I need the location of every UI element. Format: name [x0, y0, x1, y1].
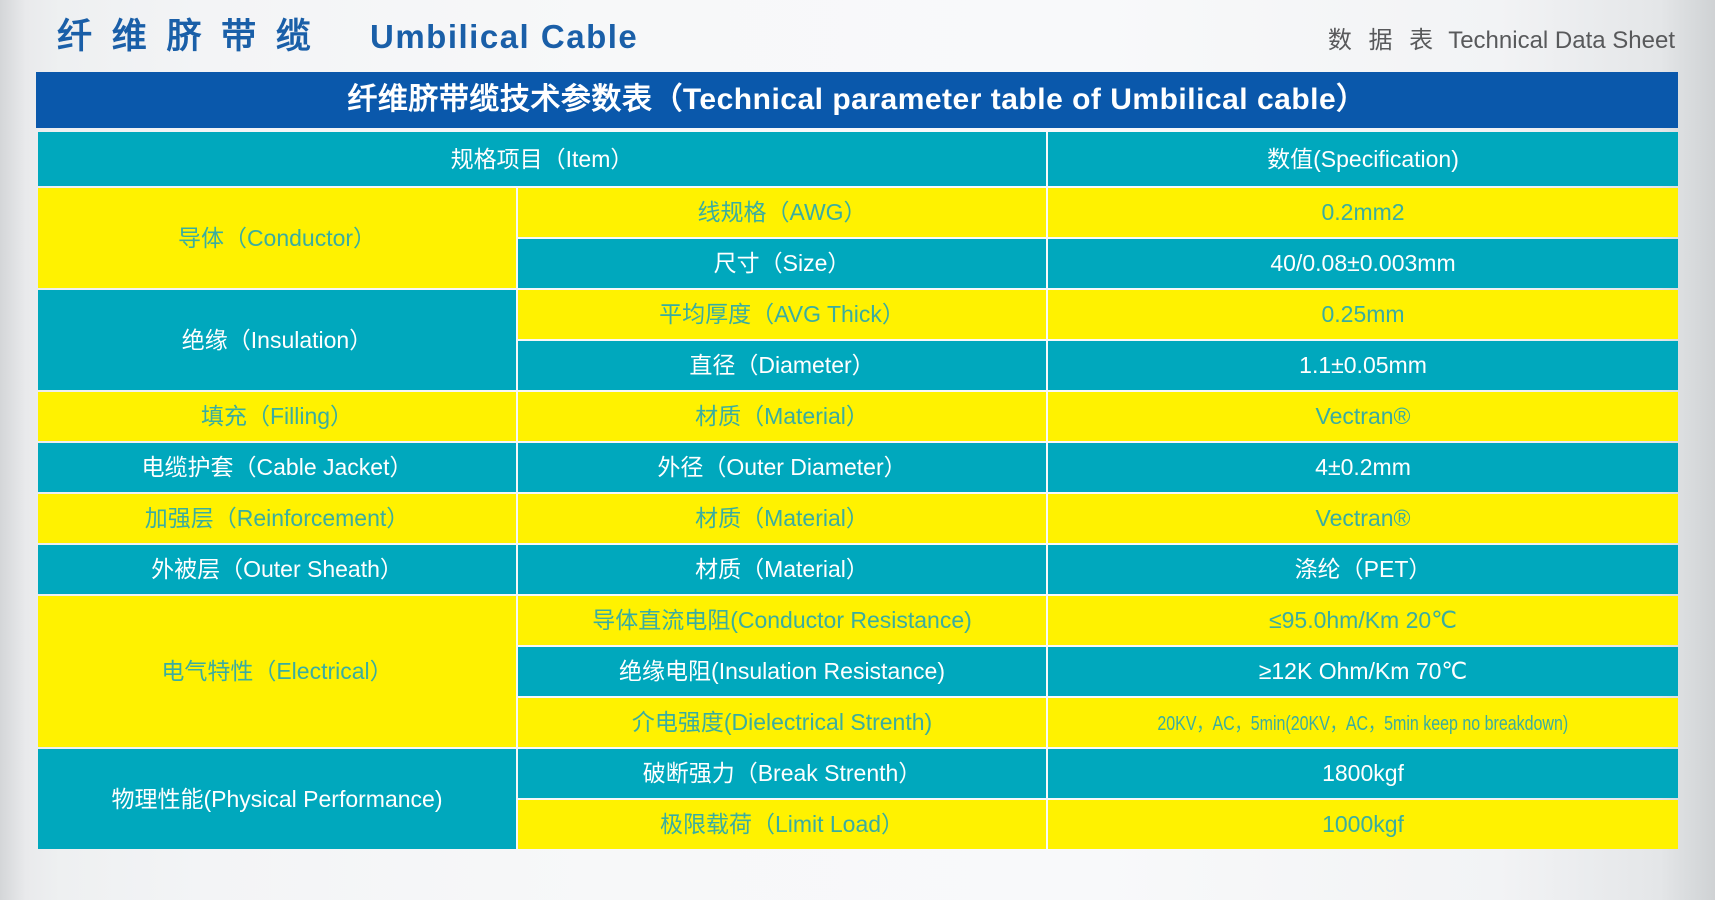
parameter-cell: 尺寸（Size） — [518, 239, 1046, 288]
table-row: 填充（Filling）材质（Material）Vectran® — [38, 392, 1678, 441]
value-cell: Vectran® — [1048, 494, 1678, 543]
parameter-cell: 绝缘电阻(Insulation Resistance) — [518, 647, 1046, 696]
table-row: 绝缘（Insulation）平均厚度（AVG Thick）0.25mm — [38, 290, 1678, 339]
group-label-cell: 外被层（Outer Sheath） — [38, 545, 516, 594]
parameter-cell: 材质（Material） — [518, 545, 1046, 594]
page-header: 纤 维 脐 带 缆 Umbilical Cable 数 据 表Technical… — [0, 0, 1715, 72]
value-cell: 0.25mm — [1048, 290, 1678, 339]
group-label-cell: 物理性能(Physical Performance) — [38, 749, 516, 849]
table-row: 电气特性（Electrical）导体直流电阻(Conductor Resista… — [38, 596, 1678, 645]
spec-table-container: 纤维脐带缆技术参数表（Technical parameter table of … — [36, 72, 1678, 851]
group-label-cell: 填充（Filling） — [38, 392, 516, 441]
parameter-cell: 外径（Outer Diameter） — [518, 443, 1046, 492]
group-label-cell: 加强层（Reinforcement） — [38, 494, 516, 543]
value-cell: 0.2mm2 — [1048, 188, 1678, 237]
value-cell: 4±0.2mm — [1048, 443, 1678, 492]
spec-table-title: 纤维脐带缆技术参数表（Technical parameter table of … — [36, 72, 1678, 128]
value-cell: Vectran® — [1048, 392, 1678, 441]
group-label-cell: 绝缘（Insulation） — [38, 290, 516, 390]
parameter-cell: 材质（Material） — [518, 494, 1046, 543]
data-sheet-label-zh: 数 据 表 — [1328, 27, 1438, 54]
parameter-cell: 材质（Material） — [518, 392, 1046, 441]
column-header-item: 规格项目（Item） — [38, 132, 1046, 186]
value-cell: 1.1±0.05mm — [1048, 341, 1678, 390]
data-sheet-label: 数 据 表Technical Data Sheet — [1328, 26, 1675, 56]
parameter-cell: 导体直流电阻(Conductor Resistance) — [518, 596, 1046, 645]
parameter-cell: 直径（Diameter） — [518, 341, 1046, 390]
spec-table-body: 规格项目（Item）数值(Specification)导体（Conductor）… — [38, 132, 1678, 849]
table-header-row: 规格项目（Item）数值(Specification) — [38, 132, 1678, 186]
group-label-cell: 电缆护套（Cable Jacket） — [38, 443, 516, 492]
table-row: 导体（Conductor）线规格（AWG）0.2mm2 — [38, 188, 1678, 237]
column-header-specification: 数值(Specification) — [1048, 132, 1678, 186]
table-row: 物理性能(Physical Performance)破断强力（Break Str… — [38, 749, 1678, 798]
parameter-cell: 平均厚度（AVG Thick） — [518, 290, 1046, 339]
table-row: 外被层（Outer Sheath）材质（Material）涤纶（PET） — [38, 545, 1678, 594]
table-row: 加强层（Reinforcement）材质（Material）Vectran® — [38, 494, 1678, 543]
data-sheet-label-en: Technical Data Sheet — [1448, 27, 1675, 54]
value-cell: 20KV，AC，5min(20KV，AC，5min keep no breakd… — [1048, 698, 1678, 747]
value-cell: ≤95.0hm/Km 20℃ — [1048, 596, 1678, 645]
value-cell: 1800kgf — [1048, 749, 1678, 798]
group-label-cell: 电气特性（Electrical） — [38, 596, 516, 747]
value-cell: 1000kgf — [1048, 800, 1678, 849]
group-label-cell: 导体（Conductor） — [38, 188, 516, 288]
value-text: 20KV，AC，5min(20KV，AC，5min keep no breakd… — [1158, 712, 1569, 737]
parameter-cell: 极限载荷（Limit Load） — [518, 800, 1046, 849]
value-cell: 涤纶（PET） — [1048, 545, 1678, 594]
value-cell: 40/0.08±0.003mm — [1048, 239, 1678, 288]
table-row: 电缆护套（Cable Jacket）外径（Outer Diameter）4±0.… — [38, 443, 1678, 492]
spec-table: 规格项目（Item）数值(Specification)导体（Conductor）… — [36, 130, 1680, 851]
page-title-en: Umbilical Cable — [370, 17, 638, 57]
parameter-cell: 破断强力（Break Strenth） — [518, 749, 1046, 798]
parameter-cell: 线规格（AWG） — [518, 188, 1046, 237]
parameter-cell: 介电强度(Dielectrical Strenth) — [518, 698, 1046, 747]
page-title-zh: 纤 维 脐 带 缆 — [57, 17, 316, 57]
value-cell: ≥12K Ohm/Km 70℃ — [1048, 647, 1678, 696]
